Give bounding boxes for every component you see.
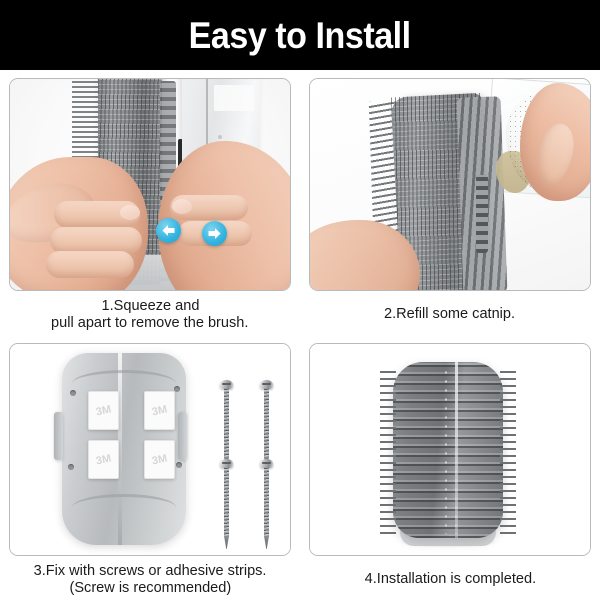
screw-shaft bbox=[224, 388, 229, 458]
caption-line: pull apart to remove the brush. bbox=[51, 314, 248, 331]
screw-hole bbox=[174, 386, 180, 392]
caption-line: 4.Installation is completed. bbox=[364, 570, 535, 587]
step-2-image-panel bbox=[309, 78, 591, 291]
base-plate-wing-right bbox=[178, 412, 187, 460]
step-3-cell: 3M 3M 3M 3M bbox=[0, 335, 300, 600]
screw bbox=[220, 459, 233, 551]
step-1-photo bbox=[10, 79, 290, 290]
groomer-bristle-dots bbox=[441, 368, 463, 534]
arrow-left-icon bbox=[161, 224, 176, 237]
caption-line: 3.Fix with screws or adhesive strips. bbox=[34, 562, 267, 579]
screw-slot bbox=[222, 383, 231, 385]
screw-shaft bbox=[224, 467, 229, 537]
step-1-image-panel bbox=[9, 78, 291, 291]
assembled-groomer bbox=[393, 362, 503, 538]
adhesive-pad: 3M bbox=[88, 391, 119, 430]
adhesive-pad: 3M bbox=[144, 391, 175, 430]
groomer-bristles-right bbox=[500, 368, 516, 534]
caption-line: 2.Refill some catnip. bbox=[384, 305, 515, 322]
groomer-bristles-left bbox=[380, 368, 396, 534]
screw-slot bbox=[262, 383, 271, 385]
adhesive-pad-brand: 3M bbox=[95, 403, 112, 418]
left-finger bbox=[46, 251, 134, 278]
screw-slot bbox=[262, 462, 271, 464]
arrow-left-badge bbox=[156, 218, 181, 243]
step-2-cell: 2.Refill some catnip. bbox=[300, 70, 600, 335]
step-1-caption: 1.Squeeze and pull apart to remove the b… bbox=[4, 294, 296, 334]
step-3-photo: 3M 3M 3M 3M bbox=[10, 344, 290, 555]
base-plate-wing-left bbox=[54, 412, 63, 460]
page-title: Easy to Install bbox=[189, 17, 411, 54]
infographic-page: Easy to Install bbox=[0, 0, 600, 600]
step-3-caption: 3.Fix with screws or adhesive strips. (S… bbox=[4, 559, 296, 599]
screw-tip bbox=[224, 536, 229, 549]
cover-label-patch bbox=[214, 85, 254, 111]
caption-line: 1.Squeeze and bbox=[101, 297, 199, 314]
left-fingernail bbox=[120, 205, 140, 220]
step-3-image-panel: 3M 3M 3M 3M bbox=[9, 343, 291, 556]
screw-tip bbox=[264, 536, 269, 549]
step-4-caption: 4.Installation is completed. bbox=[304, 559, 596, 599]
screw-slot bbox=[222, 462, 231, 464]
screw bbox=[260, 459, 273, 551]
screw-hole bbox=[176, 462, 182, 468]
brush-vent-slots bbox=[476, 175, 488, 253]
adhesive-pad-brand: 3M bbox=[95, 452, 112, 467]
screw-shaft bbox=[264, 388, 269, 458]
step-2-photo bbox=[310, 79, 590, 290]
adhesive-pad: 3M bbox=[144, 440, 175, 479]
caption-line: (Screw is recommended) bbox=[69, 579, 231, 596]
cover-screw-hole bbox=[218, 135, 222, 139]
steps-grid: 1.Squeeze and pull apart to remove the b… bbox=[0, 70, 600, 600]
screw-hole bbox=[68, 464, 74, 470]
arrow-right-icon bbox=[207, 227, 222, 240]
base-plate-arc bbox=[72, 494, 176, 521]
step-4-photo bbox=[310, 344, 590, 555]
adhesive-pad: 3M bbox=[88, 440, 119, 479]
header-banner: Easy to Install bbox=[0, 0, 600, 70]
step-2-caption: 2.Refill some catnip. bbox=[304, 294, 596, 334]
adhesive-pad-brand: 3M bbox=[151, 403, 168, 418]
adhesive-pad-brand: 3M bbox=[151, 452, 168, 467]
screw-shaft bbox=[264, 467, 269, 537]
left-finger bbox=[50, 227, 142, 254]
arrow-right-badge bbox=[202, 221, 227, 246]
step-4-image-panel bbox=[309, 343, 591, 556]
step-1-cell: 1.Squeeze and pull apart to remove the b… bbox=[0, 70, 300, 335]
step-4-cell: 4.Installation is completed. bbox=[300, 335, 600, 600]
right-fingernail bbox=[172, 199, 192, 214]
screw-hole bbox=[70, 390, 76, 396]
